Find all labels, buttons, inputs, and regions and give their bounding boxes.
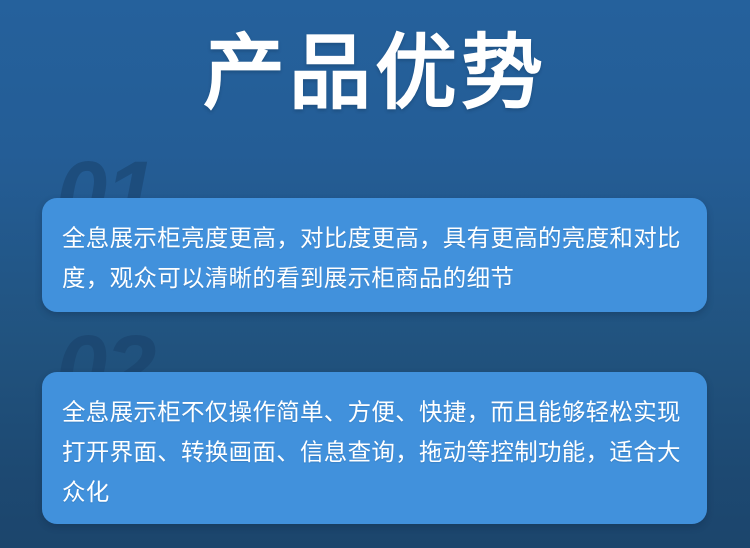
page-title-container: 产品优势 (0, 30, 750, 119)
advantage-card-01[interactable]: 全息展示柜亮度更高，对比度更高，具有更高的亮度和对比度，观众可以清晰的看到展示柜… (42, 198, 707, 312)
advantage-card-02[interactable]: 全息展示柜不仅操作简单、方便、快捷，而且能够轻松实现打开界面、转换画面、信息查询… (42, 372, 707, 524)
advantage-section-01: 01 全息展示柜亮度更高，对比度更高，具有更高的亮度和对比度，观众可以清晰的看到… (0, 148, 750, 318)
page-title: 产品优势 (203, 30, 547, 119)
advantage-section-02: 02 全息展示柜不仅操作简单、方便、快捷，而且能够轻松实现打开界面、转换画面、信… (0, 322, 750, 527)
product-advantages-poster: 产品优势 01 全息展示柜亮度更高，对比度更高，具有更高的亮度和对比度，观众可以… (0, 0, 750, 548)
advantage-card-02-text: 全息展示柜不仅操作简单、方便、快捷，而且能够轻松实现打开界面、转换画面、信息查询… (62, 392, 685, 512)
advantage-card-01-text: 全息展示柜亮度更高，对比度更高，具有更高的亮度和对比度，观众可以清晰的看到展示柜… (62, 218, 685, 298)
